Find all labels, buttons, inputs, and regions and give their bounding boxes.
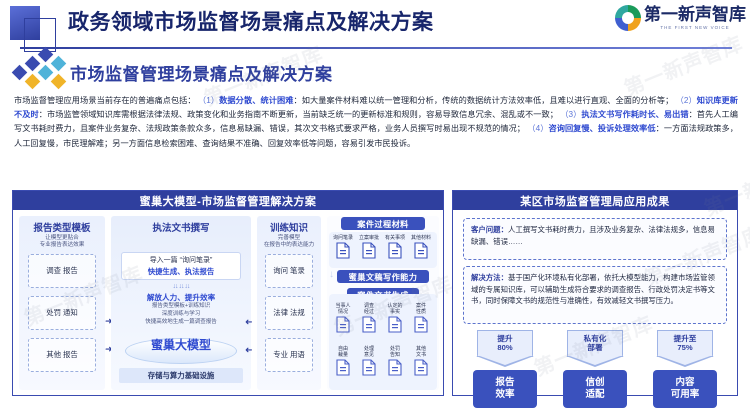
- document-icon: [336, 316, 350, 333]
- result-arrow-label-2: 提升至 75%: [657, 330, 713, 357]
- item-number-2: （2）: [676, 96, 697, 105]
- gen-doc-6[interactable]: 处罚 告知: [383, 346, 407, 376]
- document-icon: [362, 359, 376, 376]
- process-doc-2[interactable]: 有关事项: [383, 235, 407, 259]
- process-doc-label: 其他材料: [409, 235, 433, 241]
- section-title: 市场监督管理场景痛点及解决方案: [70, 60, 333, 85]
- gen-doc-2[interactable]: 认定的 事实: [383, 303, 407, 333]
- item-keyword-4: 咨询回复慢、投诉处理效率低: [548, 124, 655, 133]
- customer-problem-text: 人工撰写文书耗时费力，且涉及业务复杂、法律法规多，信息易缺漏、错误……: [471, 225, 715, 246]
- solution-diagram-panel: 蜜巢大模型-市场监督管理解决方案 报告类型模板 让模型更贴合 专业报告表达效果 …: [12, 190, 444, 396]
- document-icon: [414, 359, 428, 376]
- result-box-label-0: 报告 效率: [473, 370, 537, 408]
- gen-doc-label: 自由 裁量: [331, 346, 355, 358]
- badge-writing-ability: 蜜巢文稿写作能力: [337, 270, 429, 283]
- result-metric-report-efficiency: 提升 80% 报告 效率: [467, 330, 543, 408]
- solution-box: 解决方法：基于国产化环境私有化部署，依托大模型能力，构建市场监管领域的专属知识库…: [463, 266, 727, 324]
- item-number-4: （4）: [527, 124, 548, 133]
- left-panel-title: 蜜巢大模型-市场监督管理解决方案: [13, 191, 443, 210]
- down-arrows-icon: ↓↓ ↓↓ ↓↓: [121, 282, 241, 290]
- training-item-law[interactable]: 法律 法规: [265, 296, 313, 330]
- document-icon: [362, 316, 376, 333]
- template-item-penalty[interactable]: 处罚 通知: [28, 296, 96, 330]
- case-process-doc-group: 询问笔录 立案审批 有关事项 其他材料: [329, 232, 437, 268]
- template-item-survey[interactable]: 调查 报告: [28, 254, 96, 288]
- process-doc-1[interactable]: 立案审批: [357, 235, 381, 259]
- report-template-title: 报告类型模板: [19, 220, 105, 234]
- document-icon: [362, 242, 376, 259]
- right-panel-body: 客户问题：人工撰写文书耗时费力，且涉及业务复杂、法律法规多，信息易缺漏、错误………: [453, 210, 737, 395]
- gen-doc-label: 其他 文书: [409, 346, 433, 358]
- gen-doc-1[interactable]: 调查 经过: [357, 303, 381, 333]
- right-panel-title: 某区市场监督管理局应用成果: [453, 191, 737, 210]
- item-keyword-3: 执法文书写作耗时长、易出错: [581, 110, 688, 119]
- page-header: 政务领域市场监督场景痛点及解决方案 第一新声智库 THE FIRST NEW V…: [0, 0, 750, 52]
- gen-doc-label: 当事人 情况: [331, 303, 355, 315]
- badge-case-process-materials: 案件过程材料: [341, 217, 425, 230]
- gen-doc-4[interactable]: 自由 裁量: [331, 346, 355, 376]
- item-text-2: ：市场监管领域知识库需根据法律法规、政策变化和业务指南不断更新，当前缺乏统一的更…: [39, 110, 558, 119]
- logo-tagline: THE FIRST NEW VOICE: [644, 25, 746, 30]
- model-name-label: 蜜巢大模型: [111, 336, 251, 353]
- gen-doc-label: 认定的 事实: [383, 303, 407, 315]
- gen-doc-0[interactable]: 当事人 情况: [331, 303, 355, 333]
- solution-label: 解决方法：: [471, 273, 508, 282]
- result-arrow-label-1: 私有化 部署: [567, 330, 623, 357]
- process-doc-label: 有关事项: [383, 235, 407, 241]
- infrastructure-bar: 存储与算力基础设施: [119, 368, 243, 383]
- pain-points-paragraph: 市场监督管理应用场景当前存在的普遍痛点包括： （1）数据分散、统计困难：如大量案…: [14, 94, 738, 151]
- arrow-left-icon: ➜: [245, 316, 253, 327]
- document-icon: [414, 316, 428, 333]
- gen-doc-label: 处理 意见: [357, 346, 381, 358]
- brand-logo: 第一新声智库 THE FIRST NEW VOICE: [615, 5, 746, 31]
- item-keyword-1: 数据分散、统计困难: [219, 96, 293, 105]
- left-panel-body: 报告类型模板 让模型更贴合 专业报告表达效果 调查 报告 处罚 通知 其他 报告…: [13, 210, 443, 395]
- item-text-1: ：如大量案件材料难以统一管理和分析，传统的数据统计方法效率低，且难以进行直观、全…: [294, 96, 674, 105]
- document-icon: [414, 242, 428, 259]
- result-box-label-1: 信创 适配: [563, 370, 627, 408]
- header-divider: [20, 47, 732, 49]
- result-metric-content-usability: 提升至 75% 内容 可用率: [647, 330, 723, 408]
- slide-root: 第一新声智库 第一新声智库 第一新声智库 第一新声智库 第一新声智库 第一新声智…: [0, 0, 750, 408]
- gen-doc-label: 调查 经过: [357, 303, 381, 315]
- logo-name: 第一新声智库: [644, 6, 746, 23]
- result-box-label-2: 内容 可用率: [653, 370, 717, 408]
- diamond-cluster-icon: [14, 56, 64, 90]
- process-doc-label: 询问笔录: [331, 235, 355, 241]
- gen-doc-3[interactable]: 案件 性质: [409, 303, 433, 333]
- report-template-subtitle: 让模型更贴合 专业报告表达效果: [19, 235, 105, 250]
- document-icon: [388, 359, 402, 376]
- gen-doc-label: 案件 性质: [409, 303, 433, 315]
- page-title: 政务领域市场监督场景痛点及解决方案: [68, 6, 434, 36]
- process-doc-0[interactable]: 询问笔录: [331, 235, 355, 259]
- gen-doc-7[interactable]: 其他 文书: [409, 346, 433, 376]
- item-number-3: （3）: [560, 110, 581, 119]
- training-knowledge-subtitle: 完善模型 在报告中的表达能力: [257, 235, 321, 250]
- import-line-2: 快捷生成、执法报告: [148, 266, 215, 277]
- document-icon: [388, 316, 402, 333]
- enforcement-writing-column: 执法文书撰写 导入一篇 “询问笔录” 快捷生成、执法报告 ↓↓ ↓↓ ↓↓ 解放…: [111, 216, 251, 390]
- import-line-1: 导入一篇 “询问笔录”: [150, 255, 213, 265]
- result-arrow-label-0: 提升 80%: [477, 330, 533, 357]
- paragraph-lead: 市场监督管理应用场景当前存在的普遍痛点包括：: [14, 96, 196, 105]
- section-heading: 市场监督管理场景痛点及解决方案: [0, 56, 750, 90]
- process-doc-3[interactable]: 其他材料: [409, 235, 433, 259]
- result-metric-xinchuang-adaptation: 私有化 部署 信创 适配: [557, 330, 633, 408]
- gen-doc-5[interactable]: 处理 意见: [357, 346, 381, 376]
- application-results-panel: 某区市场监督管理局应用成果 客户问题：人工撰写文书耗时费力，且涉及业务复杂、法律…: [452, 190, 738, 396]
- import-record-card[interactable]: 导入一篇 “询问笔录” 快捷生成、执法报告: [121, 252, 241, 280]
- template-item-other[interactable]: 其他 报告: [28, 338, 96, 372]
- document-icon: [336, 359, 350, 376]
- customer-problem-label: 客户问题：: [471, 225, 508, 234]
- document-output-column: 案件过程材料 询问笔录 立案审批 有关事项 其他材料: [327, 216, 439, 390]
- document-icon: [388, 242, 402, 259]
- training-knowledge-title: 训练知识: [257, 220, 321, 234]
- report-template-column: 报告类型模板 让模型更贴合 专业报告表达效果 调查 报告 处罚 通知 其他 报告: [19, 216, 105, 390]
- customer-problem-box: 客户问题：人工撰写文书耗时费力，且涉及业务复杂、法律法规多，信息易缺漏、错误……: [463, 218, 727, 260]
- item-number-1: （1）: [198, 96, 219, 105]
- training-knowledge-column: 训练知识 完善模型 在报告中的表达能力 询问 笔录 法律 法规 专业 用语: [257, 216, 321, 390]
- generated-doc-group: 当事人 情况 调查 经过 认定的 事实 案件 性质: [329, 294, 437, 390]
- logo-swirl-icon: [615, 5, 641, 31]
- process-doc-label: 立案审批: [357, 235, 381, 241]
- efficiency-details: 报告类型模板+训练知识 深度训练与学习 快捷高效地生成一篇调查报告: [111, 302, 251, 326]
- training-item-record[interactable]: 询问 笔录: [265, 254, 313, 288]
- training-item-terms[interactable]: 专业 用语: [265, 338, 313, 372]
- gen-doc-label: 处罚 告知: [383, 346, 407, 358]
- arrow-left-icon: ➜: [245, 344, 253, 355]
- document-icon: [336, 242, 350, 259]
- solution-text: 基于国产化环境私有化部署，依托大模型能力，构建市场监管领域的专属知识库，可以辅助…: [471, 273, 715, 305]
- enforcement-writing-title: 执法文书撰写: [111, 220, 251, 234]
